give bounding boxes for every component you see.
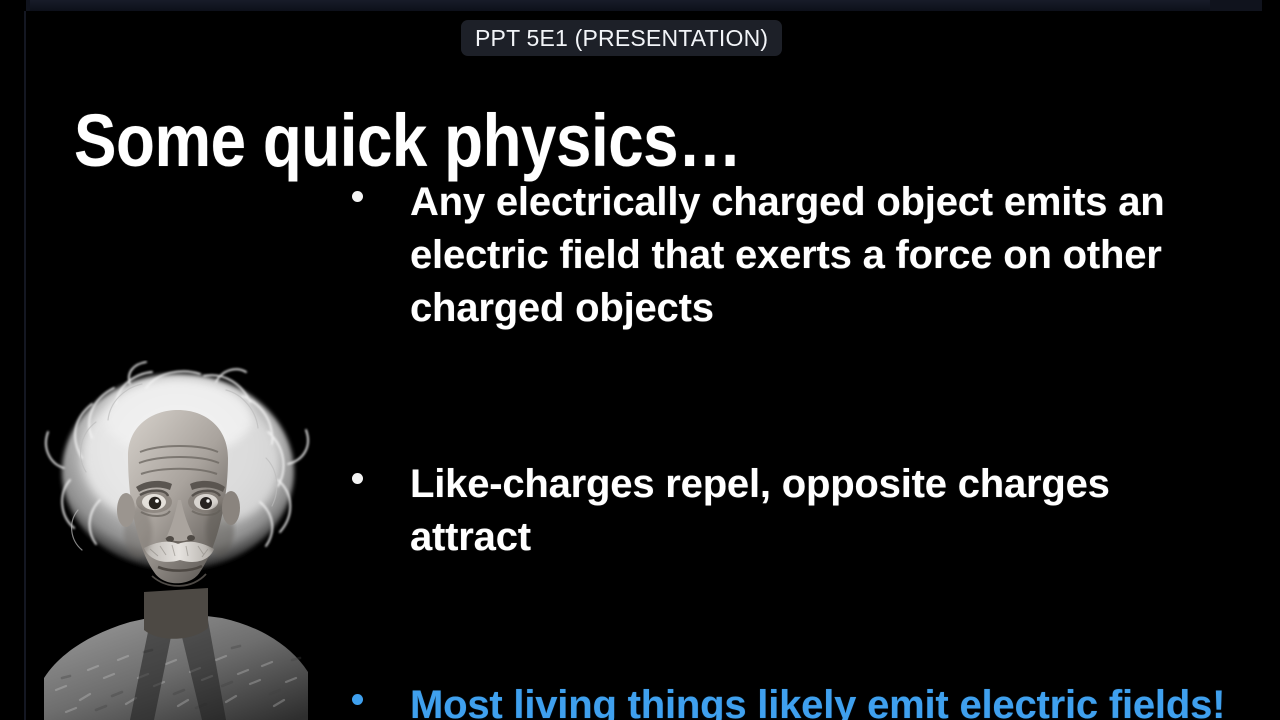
bullet-list: Any electrically charged object emits an…: [352, 176, 1242, 720]
presentation-slide: PPT 5E1 (PRESENTATION) Some quick physic…: [0, 0, 1280, 720]
top-chrome-sheen: [30, 0, 1210, 11]
top-chrome-bar: [0, 0, 1280, 11]
bullet-text-highlighted: Most living things likely emit electric …: [410, 679, 1242, 720]
einstein-portrait-svg: [26, 360, 351, 720]
einstein-portrait-image: [26, 360, 351, 720]
list-item: Any electrically charged object emits an…: [352, 176, 1242, 336]
list-item: Most living things likely emit electric …: [352, 679, 1242, 720]
bullet-text: Any electrically charged object emits an…: [410, 176, 1200, 336]
left-letterbox: [0, 0, 26, 720]
slide-badge: PPT 5E1 (PRESENTATION): [461, 20, 782, 56]
bullet-marker-icon: [352, 694, 363, 705]
page-title: Some quick physics…: [74, 102, 741, 180]
right-letterbox: [1262, 0, 1280, 720]
list-item: Like-charges repel, opposite charges att…: [352, 458, 1242, 564]
bullet-marker-icon: [352, 473, 363, 484]
slide-badge-label: PPT 5E1 (PRESENTATION): [475, 27, 768, 50]
bullet-marker-icon: [352, 191, 363, 202]
bullet-text: Like-charges repel, opposite charges att…: [410, 458, 1140, 564]
